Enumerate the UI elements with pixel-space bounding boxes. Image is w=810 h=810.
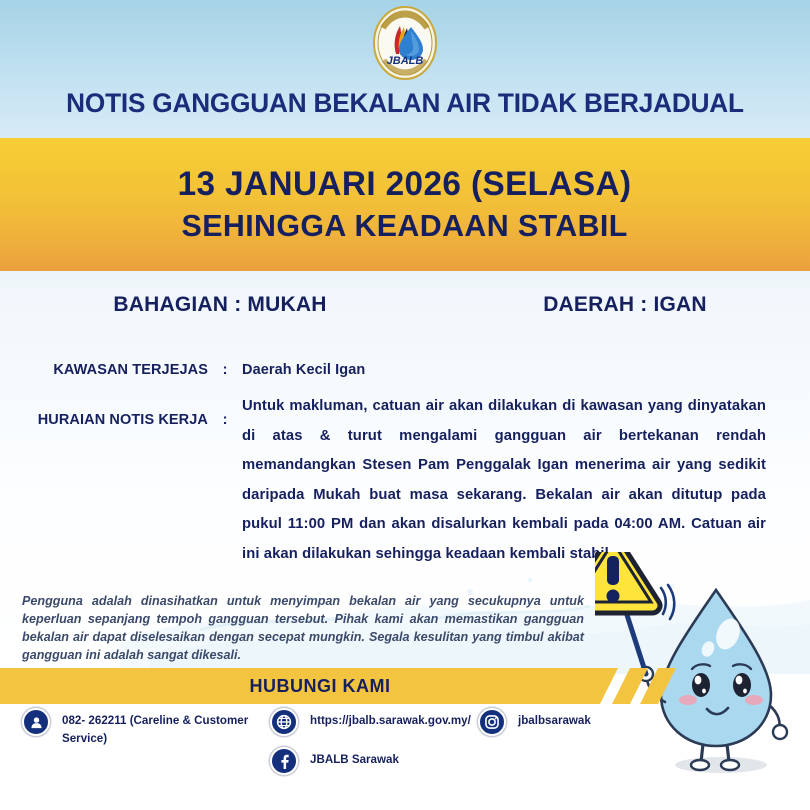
detail-row-kawasan: KAWASAN TERJEJAS : Daerah Kecil Igan <box>0 361 810 378</box>
contact-text: 082- 262211 (Careline & Customer Service… <box>62 708 262 748</box>
bahagian-label: BAHAGIAN : MUKAH <box>0 293 440 317</box>
contact-item-instagram[interactable]: jbalbsarawak <box>478 708 678 736</box>
disclaimer-text: Pengguna adalah dinasihatkan untuk menyi… <box>22 593 584 665</box>
contact-item-careline[interactable]: 082- 262211 (Careline & Customer Service… <box>22 708 272 748</box>
logo-wordmark: JBALB <box>387 55 424 67</box>
daerah-label: DAERAH : IGAN <box>440 293 810 317</box>
contact-list: 082- 262211 (Careline & Customer Service… <box>0 706 810 806</box>
date-banner: 13 JANUARI 2026 (SELASA) SEHINGGA KEADAA… <box>0 138 810 271</box>
notice-poster: JBALB NOTIS GANGGUAN BEKALAN AIR TIDAK B… <box>0 0 810 810</box>
contact-item-website[interactable]: https://jbalb.sarawak.gov.my/ <box>270 708 500 736</box>
detail-list: KAWASAN TERJEJAS : Daerah Kecil Igan HUR… <box>0 361 810 584</box>
jbalb-logo: JBALB <box>369 4 441 82</box>
detail-value: Untuk makluman, catuan air akan dilakuka… <box>242 392 766 570</box>
detail-row-huraian: HURAIAN NOTIS KERJA : Untuk makluman, ca… <box>0 392 810 570</box>
poster-header: JBALB NOTIS GANGGUAN BEKALAN AIR TIDAK B… <box>0 0 810 138</box>
detail-label: HURAIAN NOTIS KERJA <box>0 392 208 570</box>
person-icon <box>22 708 50 736</box>
detail-value: Daerah Kecil Igan <box>242 361 766 378</box>
notice-date: 13 JANUARI 2026 (SELASA) <box>178 163 632 206</box>
page-title: NOTIS GANGGUAN BEKALAN AIR TIDAK BERJADU… <box>12 88 798 119</box>
contact-text: https://jbalb.sarawak.gov.my/ <box>310 708 471 730</box>
contact-item-facebook[interactable]: JBALB Sarawak <box>270 747 500 775</box>
facebook-icon <box>270 747 298 775</box>
notice-body: BAHAGIAN : MUKAH DAERAH : IGAN KAWASAN T… <box>0 271 810 674</box>
instagram-icon <box>478 708 506 736</box>
notice-duration: SEHINGGA KEADAAN STABIL <box>182 206 628 246</box>
detail-label: KAWASAN TERJEJAS <box>0 361 208 378</box>
contact-text: jbalbsarawak <box>518 708 591 730</box>
detail-colon: : <box>208 392 242 570</box>
globe-icon <box>270 708 298 736</box>
detail-colon: : <box>208 361 242 378</box>
contact-text: JBALB Sarawak <box>310 747 399 769</box>
contact-banner-title: HUBUNGI KAMI <box>0 676 640 697</box>
location-row: BAHAGIAN : MUKAH DAERAH : IGAN <box>0 293 810 317</box>
